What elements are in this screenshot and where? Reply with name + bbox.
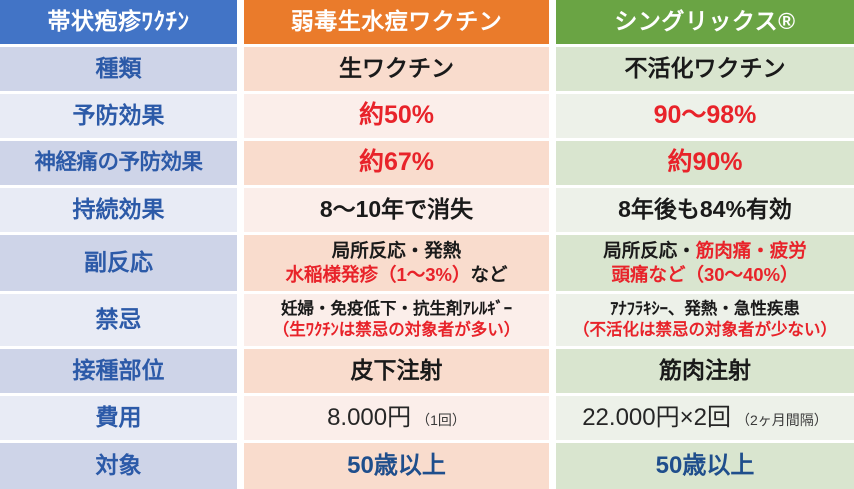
table-row-side-effects: 副反応 局所反応・発熱 水稲様発疹（1〜3%）など 局所反応・筋肉痛・疲労 頭痛… bbox=[0, 235, 854, 291]
side-effects-live-line2-suffix: など bbox=[471, 264, 508, 285]
row-label-duration: 持続効果 bbox=[0, 188, 237, 232]
cell-target-age-shingrix: 50歳以上 bbox=[556, 443, 854, 489]
cell-side-effects-shingrix: 局所反応・筋肉痛・疲労 頭痛など（30〜40%） bbox=[556, 235, 854, 291]
contraindications-live-line2: （生ﾜｸﾁﾝは禁忌の対象者が多い） bbox=[273, 320, 521, 341]
table-row-injection-site: 接種部位 皮下注射 筋肉注射 bbox=[0, 349, 854, 393]
cost-shingrix-amount: 22.000円×2回 bbox=[582, 404, 731, 431]
header-cell-live-vaccine: 弱毒生水痘ワクチン bbox=[244, 0, 549, 44]
contraindications-live-line1: 妊婦・免疫低下・抗生剤ｱﾚﾙｷﾞｰ bbox=[281, 299, 512, 320]
cell-type-shingrix: 不活化ワクチン bbox=[556, 47, 854, 91]
side-effects-shingrix-line1-prefix: 局所反応・ bbox=[603, 240, 696, 261]
cell-efficacy-shingrix: 90〜98% bbox=[556, 94, 854, 138]
row-label-target-age: 対象 bbox=[0, 443, 237, 489]
cell-side-effects-live: 局所反応・発熱 水稲様発疹（1〜3%）など bbox=[244, 235, 549, 291]
cell-injection-site-shingrix: 筋肉注射 bbox=[556, 349, 854, 393]
side-effects-shingrix-line2: 頭痛など（30〜40%） bbox=[611, 263, 798, 287]
contraindications-shingrix-line1: ｱﾅﾌﾗｷｼｰ、発熱・急性疾患 bbox=[610, 299, 800, 320]
vaccine-comparison-table: 帯状疱疹ﾜｸﾁﾝ 弱毒生水痘ワクチン シングリックス® 種類 生ワクチン 不活化… bbox=[0, 0, 854, 469]
row-label-cost: 費用 bbox=[0, 396, 237, 440]
header-cell-shingrix: シングリックス® bbox=[556, 0, 854, 44]
side-effects-live-line2-highlight: 水稲様発疹（1〜3%） bbox=[285, 264, 470, 285]
cell-efficacy-live: 約50% bbox=[244, 94, 549, 138]
cell-contraindications-live: 妊婦・免疫低下・抗生剤ｱﾚﾙｷﾞｰ （生ﾜｸﾁﾝは禁忌の対象者が多い） bbox=[244, 294, 549, 346]
cost-live-amount: 8.000円 bbox=[327, 404, 411, 431]
side-effects-live-line1: 局所反応・発熱 bbox=[332, 239, 462, 263]
table-row-type: 種類 生ワクチン 不活化ワクチン bbox=[0, 47, 854, 91]
cell-injection-site-live: 皮下注射 bbox=[244, 349, 549, 393]
cell-target-age-live: 50歳以上 bbox=[244, 443, 549, 489]
row-label-neuralgia-efficacy: 神経痛の予防効果 bbox=[0, 141, 237, 185]
row-label-efficacy: 予防効果 bbox=[0, 94, 237, 138]
cell-type-live: 生ワクチン bbox=[244, 47, 549, 91]
header-cell-category: 帯状疱疹ﾜｸﾁﾝ bbox=[0, 0, 237, 44]
cost-shingrix-note: （2ヶ月間隔） bbox=[736, 412, 828, 428]
row-label-side-effects: 副反応 bbox=[0, 235, 237, 291]
cell-cost-live: 8.000円（1回） bbox=[244, 396, 549, 440]
table-header-row: 帯状疱疹ﾜｸﾁﾝ 弱毒生水痘ワクチン シングリックス® bbox=[0, 0, 854, 44]
cell-cost-shingrix: 22.000円×2回（2ヶ月間隔） bbox=[556, 396, 854, 440]
cell-neuralgia-live: 約67% bbox=[244, 141, 549, 185]
side-effects-shingrix-line1-highlight: 筋肉痛・疲労 bbox=[696, 240, 807, 261]
table-row-neuralgia-efficacy: 神経痛の予防効果 約67% 約90% bbox=[0, 141, 854, 185]
cell-duration-shingrix: 8年後も84%有効 bbox=[556, 188, 854, 232]
cell-duration-live: 8〜10年で消失 bbox=[244, 188, 549, 232]
cost-live-note: （1回） bbox=[416, 412, 466, 428]
table-row-contraindications: 禁忌 妊婦・免疫低下・抗生剤ｱﾚﾙｷﾞｰ （生ﾜｸﾁﾝは禁忌の対象者が多い） ｱ… bbox=[0, 294, 854, 346]
table-row-duration: 持続効果 8〜10年で消失 8年後も84%有効 bbox=[0, 188, 854, 232]
table-row-target-age: 対象 50歳以上 50歳以上 bbox=[0, 443, 854, 489]
contraindications-shingrix-line2: （不活化は禁忌の対象者が少ない） bbox=[573, 320, 837, 341]
cell-neuralgia-shingrix: 約90% bbox=[556, 141, 854, 185]
row-label-injection-site: 接種部位 bbox=[0, 349, 237, 393]
cell-contraindications-shingrix: ｱﾅﾌﾗｷｼｰ、発熱・急性疾患 （不活化は禁忌の対象者が少ない） bbox=[556, 294, 854, 346]
table-row-efficacy: 予防効果 約50% 90〜98% bbox=[0, 94, 854, 138]
row-label-type: 種類 bbox=[0, 47, 237, 91]
row-label-contraindications: 禁忌 bbox=[0, 294, 237, 346]
table-row-cost: 費用 8.000円（1回） 22.000円×2回（2ヶ月間隔） bbox=[0, 396, 854, 440]
